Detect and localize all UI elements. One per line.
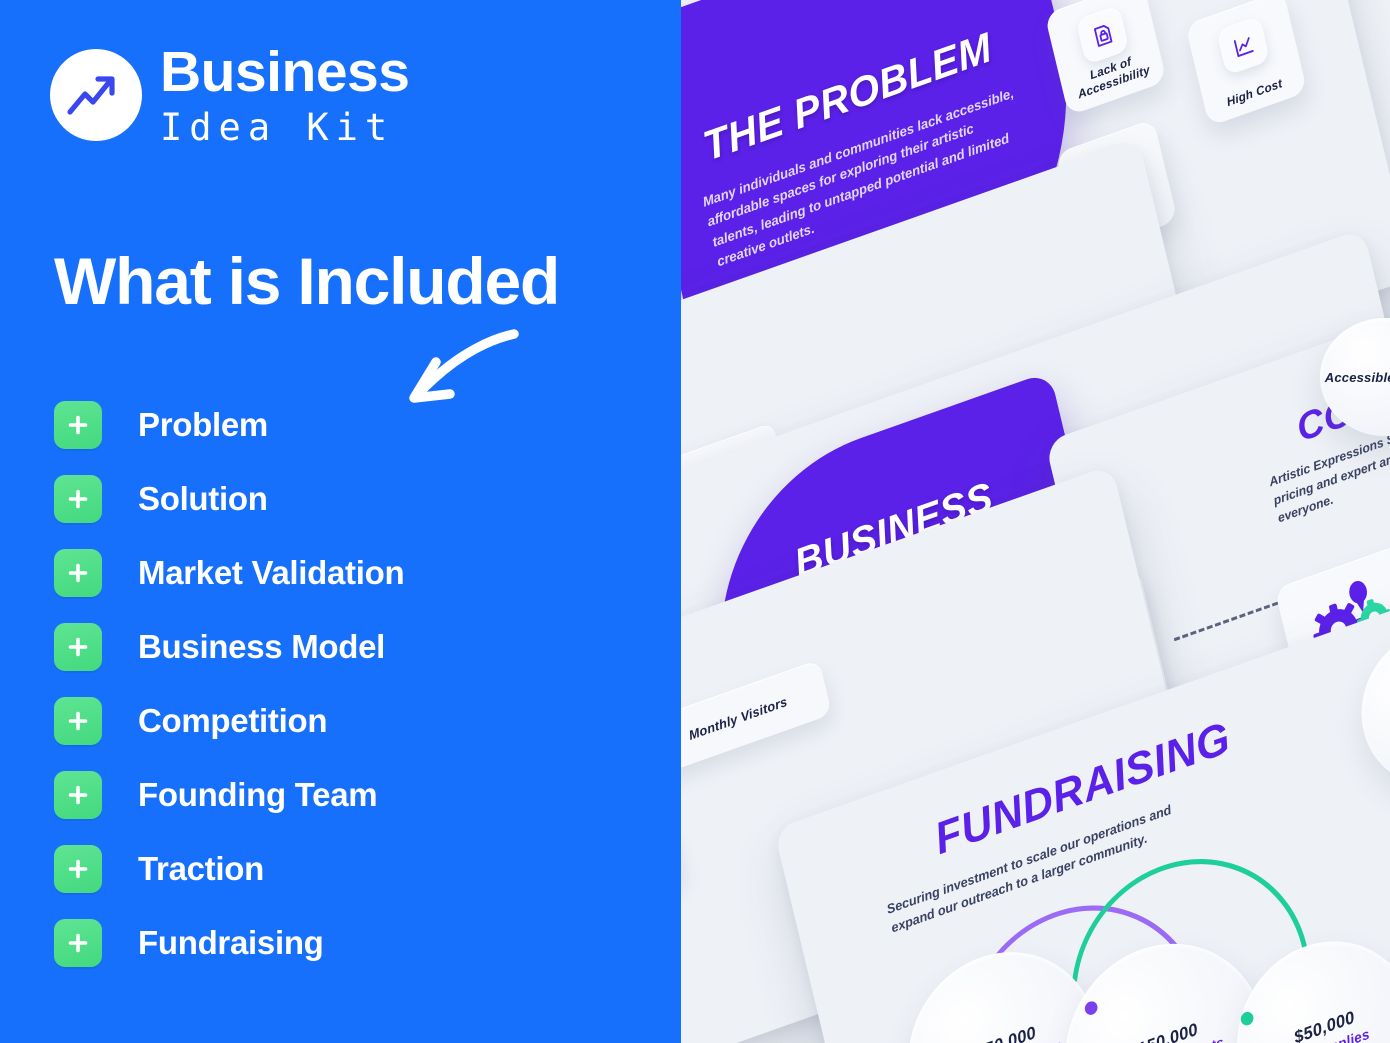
list-item-competition[interactable]: Competition	[54, 684, 404, 758]
list-item-label: Competition	[138, 702, 327, 740]
list-item-label: Solution	[138, 480, 268, 518]
curved-arrow-down-left-icon	[388, 326, 520, 413]
plus-icon	[54, 549, 102, 597]
list-item-label: Traction	[138, 850, 264, 888]
problem-card-label: High Cost	[1209, 70, 1299, 115]
plus-icon	[54, 771, 102, 819]
list-item-label: Founding Team	[138, 776, 377, 814]
connector-dashed-line	[1174, 602, 1278, 642]
list-item-traction[interactable]: Traction	[54, 832, 404, 906]
list-item-fundraising[interactable]: Fundraising	[54, 906, 404, 980]
plus-icon	[54, 401, 102, 449]
list-item-label: Market Validation	[138, 554, 404, 592]
page-title: What is Included	[54, 243, 559, 319]
brand-name-secondary: Idea Kit	[160, 109, 409, 146]
growth-arrow-chart-icon	[50, 49, 142, 141]
list-item-label: Business Model	[138, 628, 385, 666]
rising-chart-icon	[1216, 16, 1270, 76]
metrics-pill-label: Monthly Visitors	[687, 693, 788, 742]
plus-icon	[54, 845, 102, 893]
fundraising-amount: $150,000	[964, 1023, 1038, 1043]
list-item-label: Problem	[138, 406, 268, 444]
list-item-problem[interactable]: Problem	[54, 388, 404, 462]
left-info-panel: Business Idea Kit What is Included Probl…	[0, 0, 681, 1043]
list-item-solution[interactable]: Solution	[54, 462, 404, 536]
accessible-spaces-label: Accessible Spaces	[1325, 370, 1390, 386]
plus-icon	[54, 697, 102, 745]
list-item-label: Fundraising	[138, 924, 324, 962]
brand-name-primary: Business	[160, 44, 409, 101]
included-items-list: Problem Solution Market Validation Busin…	[54, 388, 404, 980]
list-item-market-validation[interactable]: Market Validation	[54, 536, 404, 610]
decorative-bubble	[1346, 608, 1390, 805]
plus-icon	[54, 475, 102, 523]
list-item-founding-team[interactable]: Founding Team	[54, 758, 404, 832]
plus-icon	[54, 623, 102, 671]
brand-logo[interactable]: Business Idea Kit	[50, 44, 409, 146]
problem-card-high-cost[interactable]: High Cost	[1185, 0, 1307, 127]
poster-canvas: THE PROBLEM Many individuals and communi…	[0, 0, 1390, 1043]
plus-icon	[54, 919, 102, 967]
fundraising-amount: $150,000	[1126, 1019, 1200, 1043]
list-item-business-model[interactable]: Business Model	[54, 610, 404, 684]
